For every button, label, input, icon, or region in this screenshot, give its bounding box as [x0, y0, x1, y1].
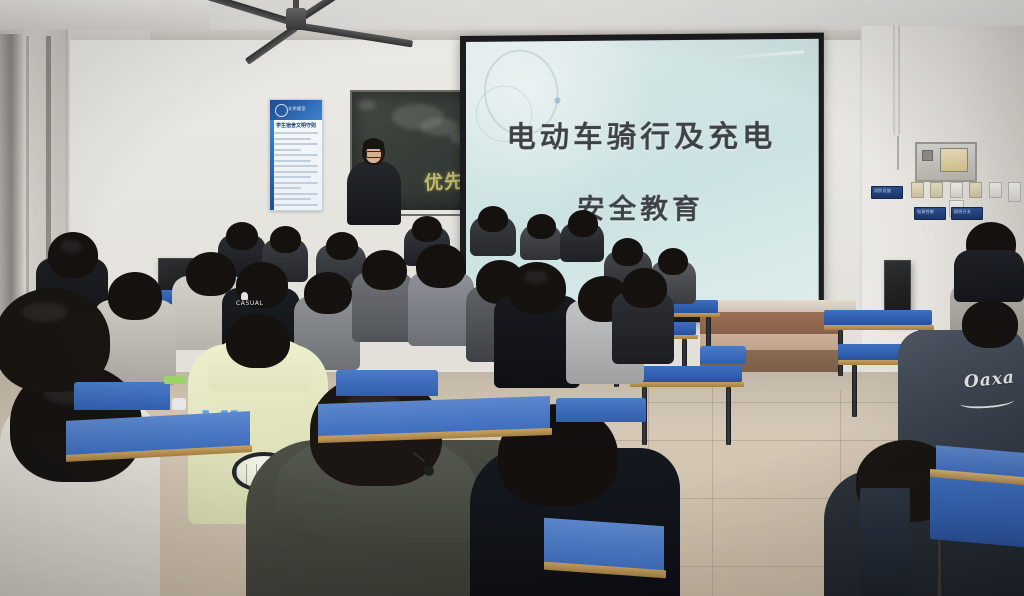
- hoodie-logo-text: CASUAL: [236, 300, 264, 307]
- ceiling-fan: [286, 8, 306, 30]
- student-head: [186, 252, 236, 296]
- panel-label-plate: 照明开关: [951, 207, 983, 220]
- teacher-presenter: [347, 161, 401, 225]
- desk-item-book: [164, 376, 186, 384]
- chair-back: [74, 382, 170, 410]
- panel-label-text: 电源控制: [917, 209, 934, 215]
- hood-drawstring-toggle: [424, 466, 434, 476]
- student-head: [362, 250, 407, 290]
- student-head: [326, 232, 358, 260]
- student-body: [954, 250, 1024, 302]
- poster-header: 文明寝室: [270, 100, 322, 120]
- screen-glare: [721, 50, 804, 59]
- wall-switch-icon[interactable]: [911, 182, 924, 198]
- student-head: [612, 238, 643, 266]
- panel-label-text: 消防设施: [874, 188, 891, 194]
- classroom-photo: 文明寝室 学生宿舍文明守则 优先服 电动车骑行及充电 安全教育: [0, 0, 1024, 596]
- floor-tile-seam: [620, 402, 920, 403]
- student-head: [622, 268, 667, 308]
- panel-meter-window: [940, 148, 968, 172]
- floor-tile-seam: [712, 372, 713, 596]
- chair-back: [700, 346, 746, 364]
- chair-back: [336, 370, 438, 396]
- student-head: [658, 248, 688, 275]
- teacher-hair: [363, 139, 384, 149]
- poster-header-text: 文明寝室: [288, 106, 306, 112]
- window-mullion-secondary-icon: [26, 36, 29, 326]
- wall-pipe: [893, 24, 900, 136]
- ceiling-soffit: [0, 0, 210, 30]
- poster-title: 学生宿舍文明守则: [270, 122, 322, 129]
- chair-back: [860, 488, 910, 596]
- desk-leg: [936, 540, 943, 596]
- school-emblem-icon: [275, 104, 288, 117]
- chair-back: [556, 398, 646, 422]
- student-head: [226, 314, 290, 368]
- wall-corner-right: [860, 28, 863, 328]
- slide-dot-icon: [554, 97, 560, 103]
- panel-dial-icon: [922, 150, 933, 161]
- wall-switch-icon[interactable]: [930, 182, 943, 198]
- hair-highlight: [60, 240, 82, 253]
- hair-highlight: [22, 302, 68, 322]
- student-head: [48, 232, 98, 278]
- desk-leg: [852, 365, 857, 417]
- student-head: [270, 226, 301, 253]
- wainscot-upper: [700, 312, 838, 334]
- student-head: [527, 214, 556, 239]
- desk: [630, 366, 742, 382]
- desk-front-panel: [930, 477, 1024, 549]
- student-head: [416, 244, 466, 288]
- wall-switch-icon[interactable]: [969, 182, 982, 198]
- student-head: [226, 222, 258, 250]
- student-head: [108, 272, 162, 320]
- desk-leg: [726, 387, 731, 445]
- wall-switch-icon[interactable]: [989, 182, 1002, 198]
- panel-label-text: 照明开关: [954, 209, 971, 215]
- chalk-smudge: [358, 100, 376, 110]
- wall-wire: [897, 136, 899, 170]
- poster-body-lines: [274, 132, 318, 209]
- wall-poster: 文明寝室 学生宿舍文明守则: [269, 99, 323, 211]
- hoodie-logo-icon: [241, 292, 248, 300]
- student-head: [412, 216, 442, 242]
- switch-bank[interactable]: [911, 182, 1023, 202]
- panel-label-plate: 消防设施: [871, 186, 903, 199]
- desk-item-bottle: [172, 398, 186, 410]
- slide-title-line-1: 电动车骑行及充电: [466, 112, 819, 156]
- student-head: [304, 272, 352, 314]
- panel-label-plate: 电源控制: [914, 207, 946, 220]
- student-head: [962, 300, 1018, 348]
- desk: [824, 310, 932, 325]
- student-head: [478, 206, 508, 232]
- wall-switch-icon[interactable]: [1008, 182, 1021, 202]
- glasses-icon: [366, 151, 383, 158]
- hair-highlight: [524, 270, 548, 284]
- student-head: [568, 210, 598, 237]
- slide-title-line-2: 安全教育: [466, 187, 819, 227]
- net-strand: [246, 464, 247, 486]
- wall-switch-icon[interactable]: [950, 182, 963, 198]
